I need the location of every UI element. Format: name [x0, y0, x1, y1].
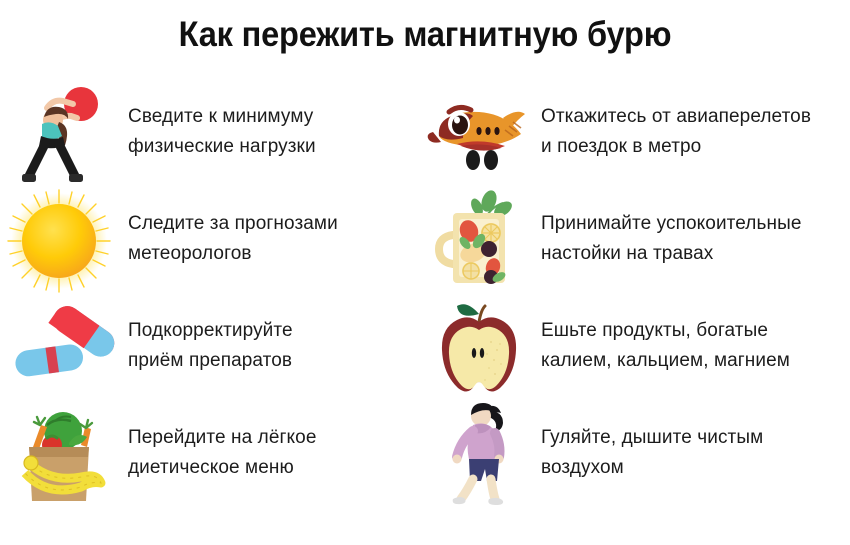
tip-text: Следите за прогнозами метеорологов — [128, 189, 338, 269]
airplane-icon — [425, 82, 533, 186]
tip-item: Перейдите на лёгкое диетическое меню — [0, 403, 425, 510]
tip-line-2: диетическое меню — [128, 453, 317, 483]
woman-exercising-with-ball-icon — [0, 82, 118, 186]
tip-line-1: Перейдите на лёгкое — [128, 427, 317, 448]
tip-line-1: Сведите к минимуму — [128, 106, 313, 127]
tip-item: Принимайте успокоительные настойки на тр… — [425, 189, 850, 296]
tip-line-1: Откажитесь от авиаперелетов — [541, 106, 811, 127]
pills-capsules-icon — [0, 296, 118, 400]
page-title: Как пережить магнитную бурю — [30, 14, 821, 56]
tip-line-2: приём препаратов — [128, 346, 293, 376]
tip-line-2: воздухом — [541, 453, 763, 483]
tip-text: Гуляйте, дышите чистым воздухом — [541, 403, 763, 483]
tip-line-1: Следите за прогнозами — [128, 213, 338, 234]
tip-text: Принимайте успокоительные настойки на тр… — [541, 189, 802, 269]
tip-text: Подкорректируйте приём препаратов — [128, 296, 293, 376]
tip-line-1: Подкорректируйте — [128, 320, 293, 341]
tip-item: Откажитесь от авиаперелетов и поездок в … — [425, 82, 850, 189]
sun-icon — [0, 189, 118, 293]
tip-text: Сведите к минимуму физические нагрузки — [128, 82, 316, 162]
tip-line-1: Ешьте продукты, богатые — [541, 320, 768, 341]
grocery-bag-with-measuring-tape-icon — [0, 403, 118, 507]
tip-item: Ешьте продукты, богатые калием, кальцием… — [425, 296, 850, 403]
tips-column-right: Откажитесь от авиаперелетов и поездок в … — [425, 82, 850, 510]
tip-item: Гуляйте, дышите чистым воздухом — [425, 403, 850, 510]
tip-line-2: настойки на травах — [541, 239, 802, 269]
tips-column-left: Сведите к минимуму физические нагрузки — [0, 82, 425, 510]
tip-text: Перейдите на лёгкое диетическое меню — [128, 403, 317, 483]
tip-text: Откажитесь от авиаперелетов и поездок в … — [541, 82, 811, 162]
tip-line-1: Принимайте успокоительные — [541, 213, 802, 234]
tip-item: Следите за прогнозами метеорологов — [0, 189, 425, 296]
tip-text: Ешьте продукты, богатые калием, кальцием… — [541, 296, 790, 376]
infographic-page: Как пережить магнитную бурю — [0, 0, 850, 545]
tip-line-2: метеорологов — [128, 239, 338, 269]
walking-woman-icon — [425, 403, 533, 507]
tip-line-2: и поездок в метро — [541, 132, 811, 162]
tip-line-2: физические нагрузки — [128, 132, 316, 162]
tip-item: Подкорректируйте приём препаратов — [0, 296, 425, 403]
herbal-infusion-mug-icon — [425, 189, 533, 293]
tip-line-1: Гуляйте, дышите чистым — [541, 427, 763, 448]
tip-line-2: калием, кальцием, магнием — [541, 346, 790, 376]
tips-grid: Сведите к минимуму физические нагрузки — [0, 82, 850, 510]
halved-apple-icon — [425, 296, 533, 400]
tip-item: Сведите к минимуму физические нагрузки — [0, 82, 425, 189]
